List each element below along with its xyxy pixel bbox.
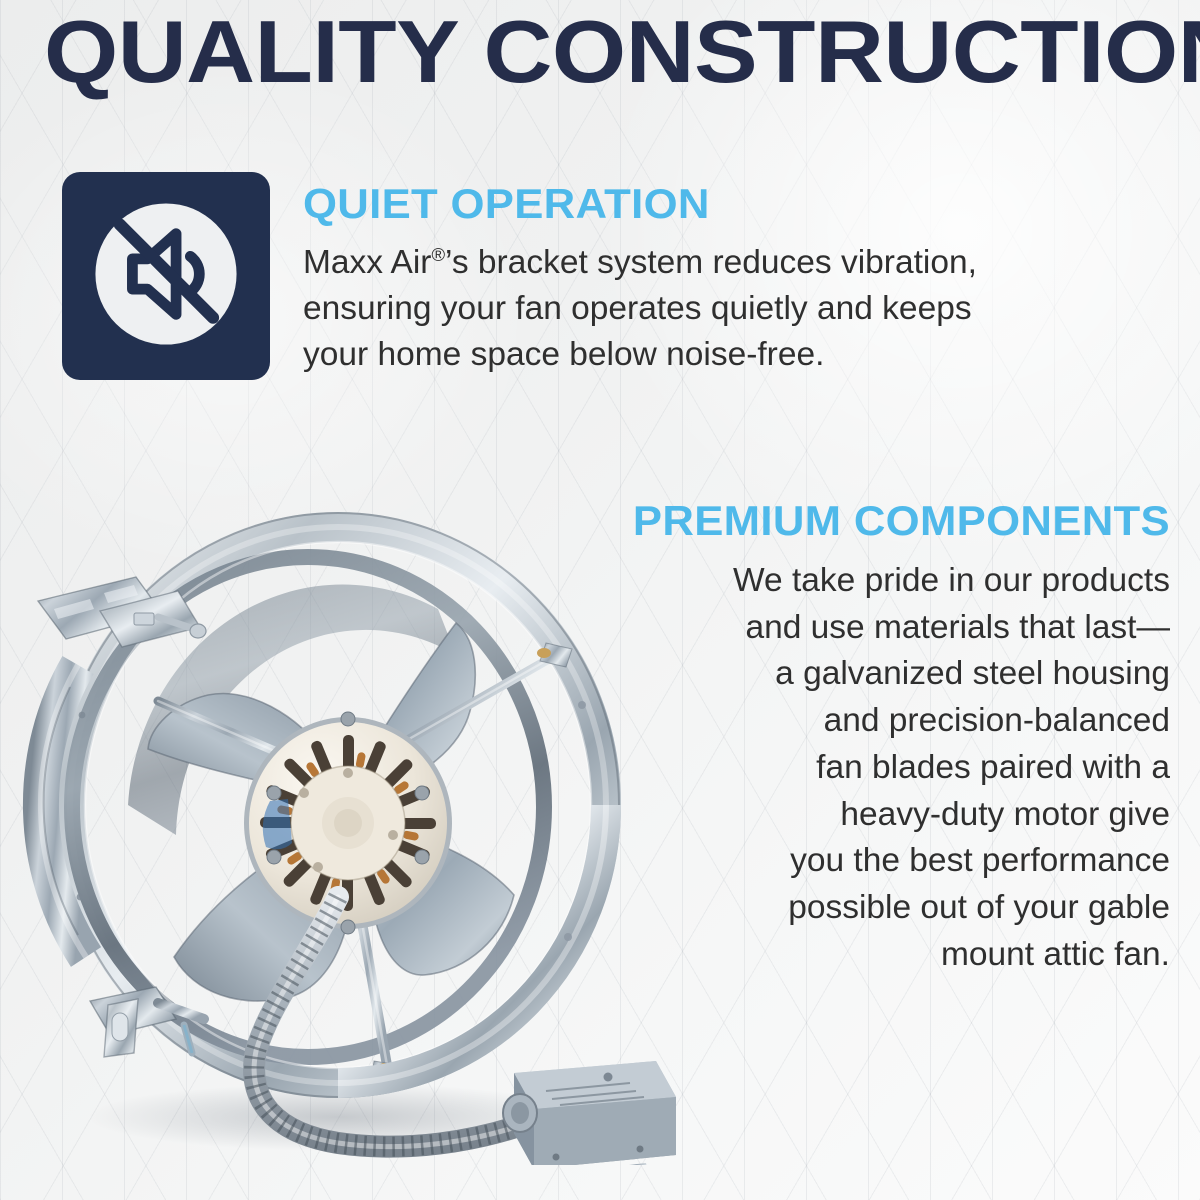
registered-trademark-mark: ®: [431, 244, 445, 265]
feature-1-heading: QUIET OPERATION: [303, 183, 1200, 225]
feature-1-body: Maxx Air®’s bracket system reduces vibra…: [303, 240, 1169, 378]
feature-quiet-operation: QUIET OPERATION Maxx Air®’s bracket syst…: [303, 183, 1169, 378]
thermostat-junction-box: [503, 1061, 676, 1165]
page-title: QUALITY CONSTRUCTION: [44, 7, 1200, 97]
gable-mount-attic-fan-image: [8, 505, 708, 1165]
mute-speaker-icon: [82, 190, 250, 363]
feature-1-body-line-2: ensuring your fan operates quietly and k…: [303, 286, 1169, 332]
quiet-operation-icon-box: [62, 172, 270, 380]
feature-1-body-line-1: Maxx Air®’s bracket system reduces vibra…: [303, 240, 1169, 286]
infographic-canvas: QUALITY CONSTRUCTION QUIET OPERATION Max…: [0, 0, 1200, 1200]
feature-1-body-line-3: your home space below noise-free.: [303, 332, 1169, 378]
